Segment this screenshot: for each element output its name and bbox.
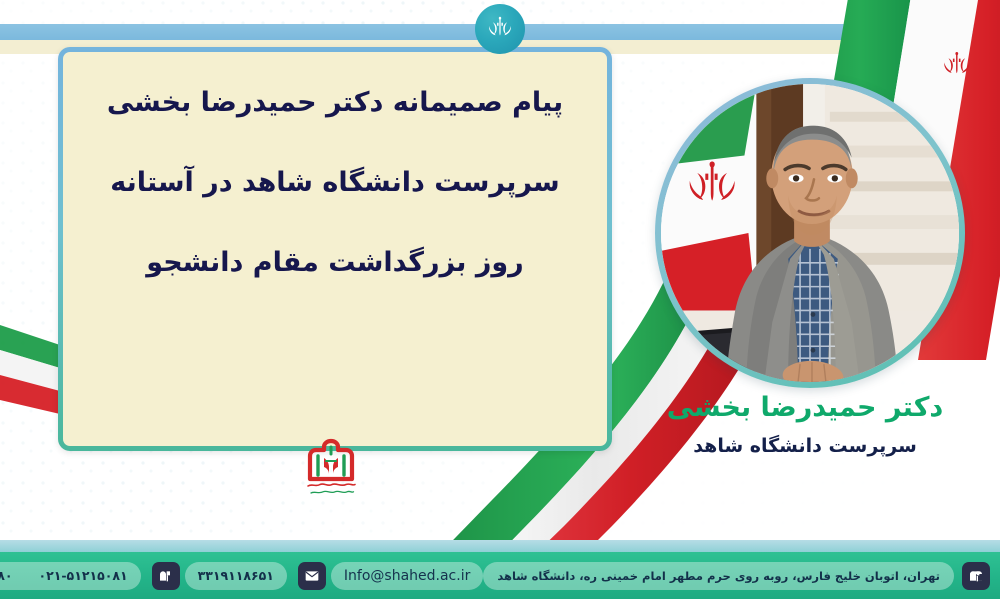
- message-line-2: سرپرست دانشگاه شاهد در آستانه: [93, 166, 577, 200]
- footer-postal-code: ۳۳۱۹۱۱۸۶۵۱: [185, 562, 287, 590]
- speaker-name: دکتر حمیدرضا بخشی: [620, 392, 990, 424]
- message-card-inner: پیام صمیمانه دکتر حمیدرضا بخشی سرپرست دا…: [63, 52, 607, 446]
- mailbox-icon: [152, 562, 180, 590]
- iran-national-emblem-icon: [475, 4, 525, 54]
- footer-address-group: تهران، اتوبان خلیج فارس، روبه روی حرم مط…: [483, 562, 990, 590]
- footer-email-pair: Info@shahed.ac.ir: [298, 562, 483, 590]
- footer-bar: تهران، اتوبان خلیج فارس، روبه روی حرم مط…: [0, 552, 1000, 599]
- message-line-1: پیام صمیمانه دکتر حمیدرضا بخشی: [93, 86, 577, 120]
- speaker-caption: دکتر حمیدرضا بخشی سرپرست دانشگاه شاهد: [620, 392, 990, 458]
- banner-root: پیام صمیمانه دکتر حمیدرضا بخشی سرپرست دا…: [0, 0, 1000, 599]
- footer-phone-2: ۰۲۱-۵۱۲۱۵۰۸۱: [38, 568, 127, 583]
- shahed-university-logo-icon: [296, 437, 366, 499]
- portrait-image: [661, 84, 959, 382]
- footer-phone-pair: ۰۲۱-۵۱۲۱۵۰۸۰ ۰۲۱-۵۱۲۱۵۰۸۱: [0, 562, 141, 590]
- footer-contact-group: ۰۲۱-۵۱۲۱۵۰۸۰ ۰۲۱-۵۱۲۱۵۰۸۱ ۳۳۱۹۱۱۸۶۵۱: [0, 562, 483, 590]
- envelope-icon: [298, 562, 326, 590]
- footer-postal-pair: ۳۳۱۹۱۱۸۶۵۱: [152, 562, 287, 590]
- footer-address-text: تهران، اتوبان خلیج فارس، روبه روی حرم مط…: [483, 562, 954, 590]
- footer-phones: ۰۲۱-۵۱۲۱۵۰۸۰ ۰۲۱-۵۱۲۱۵۰۸۱: [0, 568, 128, 583]
- footer-phone-1: ۰۲۱-۵۱۲۱۵۰۸۰: [0, 568, 12, 583]
- footer-email: Info@shahed.ac.ir: [331, 562, 483, 590]
- portrait-ring: [655, 78, 965, 388]
- footer-light-strip: [0, 540, 1000, 552]
- message-line-3: روز بزرگداشت مقام دانشجو: [93, 246, 577, 280]
- portrait-photo: [655, 78, 965, 388]
- mailbox-icon: [962, 562, 990, 590]
- speaker-role: سرپرست دانشگاه شاهد: [620, 435, 990, 458]
- footer-phones-chip: ۰۲۱-۵۱۲۱۵۰۸۰ ۰۲۱-۵۱۲۱۵۰۸۱: [0, 562, 141, 590]
- message-card: پیام صمیمانه دکتر حمیدرضا بخشی سرپرست دا…: [58, 47, 612, 451]
